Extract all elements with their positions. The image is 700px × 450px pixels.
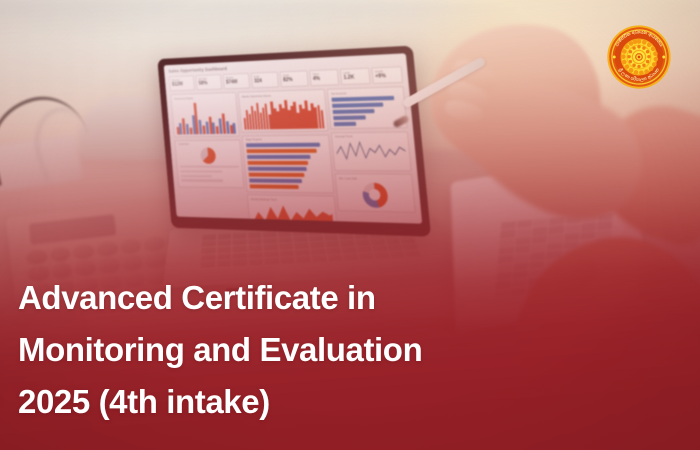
dashboard-chart-grid: Revenue by Region — [170, 86, 418, 224]
kpi-value: $12M — [172, 81, 193, 87]
chart-title: Monthly Bookings Trend — [251, 198, 332, 203]
kpi-card: Revenue $12M — [169, 75, 195, 91]
chart-title: Stage Progress — [245, 138, 326, 142]
bar-chart-revenue-by-region — [174, 100, 236, 134]
chart-card-win-loss-split: Win / Loss Split — [335, 173, 416, 213]
course-promo-banner: Sales Opportunity Dashboard Revenue $12M… — [0, 0, 700, 450]
kpi-card: Churn 4% — [309, 69, 339, 86]
chart-card-monthly-bookings-trend: Monthly Bookings Trend — [247, 194, 338, 224]
kpi-card: Quota 82% — [280, 70, 309, 87]
chart-card-revenue-by-region: Revenue by Region — [170, 92, 239, 137]
kpi-card: Growth +9% — [371, 66, 403, 84]
title-line-2: Monitoring and Evaluation — [18, 324, 578, 376]
sales-dashboard: Sales Opportunity Dashboard Revenue $12M… — [164, 53, 423, 223]
title-line-1: Advanced Certificate in — [18, 272, 578, 324]
chart-card-stage-progress: Stage Progress — [242, 134, 334, 193]
laptop-lid: Sales Opportunity Dashboard Revenue $12M… — [157, 46, 431, 237]
chart-title: Top Accounts — [331, 90, 401, 95]
kpi-card: Win Rate 58% — [195, 74, 222, 90]
chart-title: Win / Loss Split — [339, 177, 409, 181]
area-chart-monthly-bookings-trend — [251, 203, 335, 224]
kpi-value: 58% — [198, 80, 220, 87]
kpi-value: 82% — [283, 76, 307, 83]
kpi-card: Leads 1.2K — [340, 68, 371, 86]
kpi-value: 1.2K — [343, 74, 368, 81]
chart-title: Forecast Trend — [335, 135, 405, 139]
donut-chart-win-loss-split — [361, 182, 388, 207]
kpi-card: Deals 324 — [251, 72, 279, 89]
chart-card-conversion: Conversion — [174, 139, 244, 188]
chart-card-weekly-opportunity-volume: Weekly Opportunity Volume — [238, 89, 329, 133]
bar-chart-stage-progress — [246, 143, 331, 190]
banner-title: Advanced Certificate in Monitoring and E… — [18, 272, 578, 428]
kpi-value: $74M — [226, 79, 248, 86]
chart-title: Revenue by Region — [174, 95, 233, 100]
bar-chart-weekly-opportunity-volume — [242, 98, 325, 130]
donut-chart-conversion — [200, 147, 216, 163]
kpi-value: 4% — [313, 75, 337, 82]
dashboard-column-middle: Weekly Opportunity Volume — [238, 89, 338, 224]
calculator-display — [29, 214, 117, 245]
kpi-value: +9% — [375, 73, 401, 80]
legend-list — [180, 166, 241, 182]
chart-title: Conversion — [178, 142, 238, 145]
title-line-3: 2025 (4th intake) — [18, 376, 578, 428]
circular-emblem-icon: ටාත්ත්වික අධ්‍යයන ආයතනය ශ්‍රී ලංකා පරිපා… — [606, 24, 672, 90]
kpi-card: Pipeline $74M — [223, 73, 251, 90]
kpi-value: 324 — [254, 78, 277, 85]
laptop: Sales Opportunity Dashboard Revenue $12M… — [150, 52, 450, 302]
institute-logo: ටාත්ත්වික අධ්‍යයන ආයතනය ශ්‍රී ලංකා පරිපා… — [606, 24, 672, 90]
chart-card-forecast-trend: Forecast Trend — [331, 131, 412, 171]
laptop-screen: Sales Opportunity Dashboard Revenue $12M… — [164, 53, 423, 223]
dashboard-column-left: Revenue by Region — [170, 92, 248, 224]
line-chart-forecast-trend — [335, 140, 407, 167]
